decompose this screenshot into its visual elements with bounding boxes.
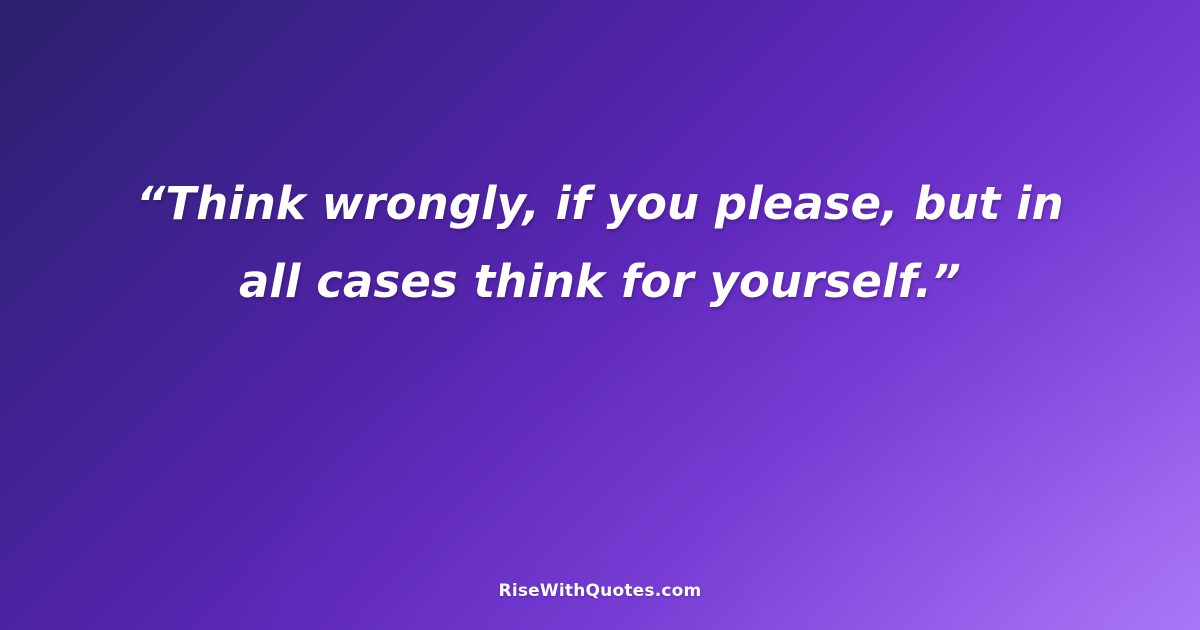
site-attribution: RiseWithQuotes.com xyxy=(0,581,1200,601)
quote-card: “Think wrongly, if you please, but in al… xyxy=(0,0,1200,630)
quote-text: “Think wrongly, if you please, but in al… xyxy=(100,165,1100,321)
